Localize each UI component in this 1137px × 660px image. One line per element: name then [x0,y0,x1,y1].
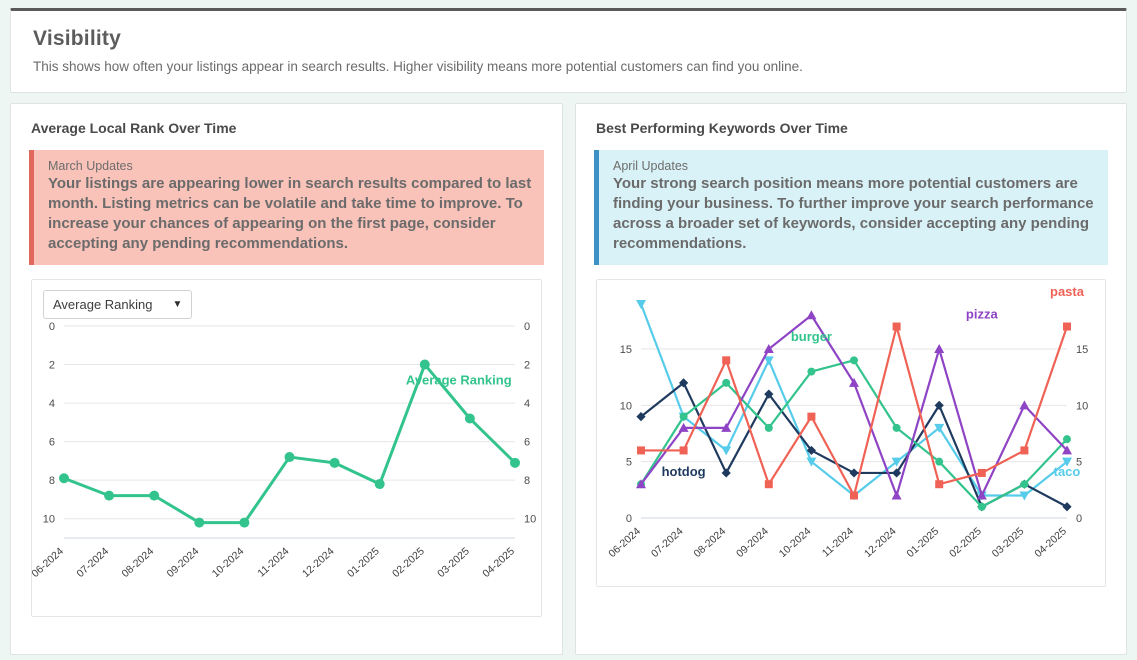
page-title: Visibility [33,27,1104,51]
svg-text:08-2024: 08-2024 [120,545,157,580]
svg-text:2: 2 [49,359,55,371]
svg-text:01-2025: 01-2025 [345,545,382,580]
svg-text:15: 15 [1076,344,1088,356]
svg-text:0: 0 [524,321,530,333]
svg-text:10: 10 [1076,400,1088,412]
svg-text:pasta: pasta [1050,284,1085,299]
svg-text:08-2024: 08-2024 [692,525,729,560]
svg-text:11-2024: 11-2024 [255,545,291,579]
metric-select[interactable]: Average Ranking ▼ [43,290,192,319]
svg-text:5: 5 [626,456,632,468]
svg-text:02-2025: 02-2025 [390,545,427,580]
svg-text:8: 8 [524,475,530,487]
svg-text:12-2024: 12-2024 [862,525,899,560]
march-alert-body: Your listings are appearing lower in sea… [48,174,532,254]
svg-text:11-2024: 11-2024 [820,525,856,559]
april-updates-alert: April Updates Your strong search positio… [594,150,1108,265]
svg-text:2: 2 [524,359,530,371]
panels-container: Average Local Rank Over Time March Updat… [10,103,1127,655]
best-keywords-plot: 00551010151506-202407-202408-202409-2024… [597,280,1111,586]
page-root: Visibility This shows how often your lis… [0,0,1137,660]
chevron-down-icon: ▼ [173,299,183,310]
april-alert-label: April Updates [613,159,1096,173]
svg-text:03-2025: 03-2025 [990,525,1027,560]
svg-text:01-2025: 01-2025 [905,525,942,560]
svg-text:10: 10 [524,513,536,525]
svg-text:burger: burger [791,329,832,344]
svg-text:12-2024: 12-2024 [300,545,337,580]
best-keywords-chart-frame: 00551010151506-202407-202408-202409-2024… [596,279,1106,587]
svg-text:07-2024: 07-2024 [74,545,111,580]
left-card-title: Average Local Rank Over Time [31,120,544,136]
march-alert-label: March Updates [48,159,532,173]
svg-text:04-2025: 04-2025 [1032,525,1069,560]
svg-text:15: 15 [620,344,632,356]
svg-text:8: 8 [49,475,55,487]
average-local-rank-chart-frame: Average Ranking ▼ 0022446688101006-20240… [31,279,542,617]
svg-text:10-2024: 10-2024 [777,525,814,560]
svg-text:07-2024: 07-2024 [649,525,686,560]
svg-text:0: 0 [626,513,632,525]
svg-text:09-2024: 09-2024 [165,545,202,580]
svg-text:taco: taco [1054,464,1081,479]
svg-text:10: 10 [620,400,632,412]
svg-text:4: 4 [524,398,530,410]
svg-text:06-2024: 06-2024 [32,545,66,580]
svg-text:03-2025: 03-2025 [435,545,472,580]
average-local-rank-plot: 0022446688101006-202407-202408-202409-20… [32,280,547,616]
svg-text:6: 6 [524,436,530,448]
svg-text:10-2024: 10-2024 [210,545,247,580]
svg-text:4: 4 [49,398,55,410]
best-keywords-card: Best Performing Keywords Over Time April… [575,103,1127,655]
visibility-header-card: Visibility This shows how often your lis… [10,8,1127,93]
april-alert-body: Your strong search position means more p… [613,174,1096,254]
svg-text:6: 6 [49,436,55,448]
svg-text:09-2024: 09-2024 [734,525,771,560]
svg-text:04-2025: 04-2025 [480,545,517,580]
svg-text:10: 10 [43,513,55,525]
march-updates-alert: March Updates Your listings are appearin… [29,150,544,265]
average-local-rank-card: Average Local Rank Over Time March Updat… [10,103,563,655]
right-card-title: Best Performing Keywords Over Time [596,120,1108,136]
svg-text:0: 0 [1076,513,1082,525]
svg-text:02-2025: 02-2025 [947,525,984,560]
metric-select-value: Average Ranking [53,297,153,312]
svg-text:hotdog: hotdog [662,464,706,479]
svg-text:Average Ranking: Average Ranking [406,372,512,387]
svg-text:06-2024: 06-2024 [606,525,643,560]
svg-text:pizza: pizza [966,306,999,321]
svg-text:0: 0 [49,321,55,333]
page-subtitle: This shows how often your listings appea… [33,59,1104,74]
